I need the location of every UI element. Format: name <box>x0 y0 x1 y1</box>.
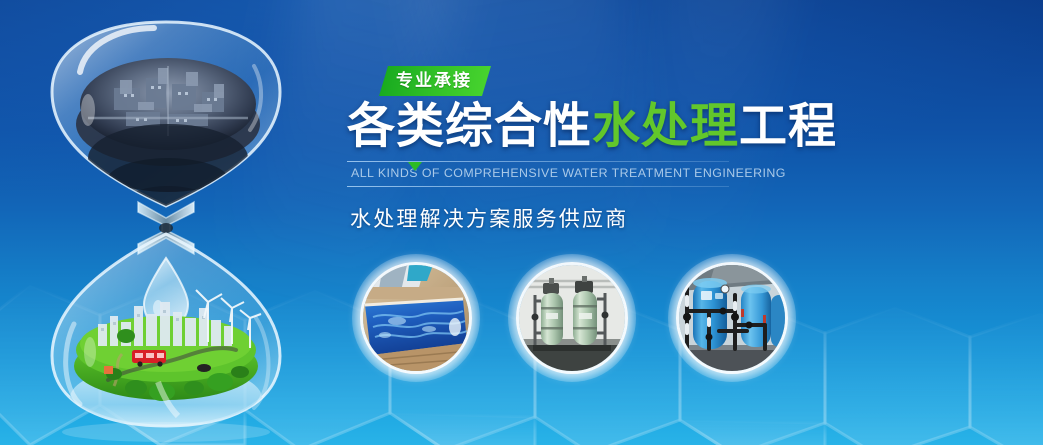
headline-part-green: 水处理 <box>592 100 739 153</box>
hourglass-illustration <box>18 6 318 442</box>
headline-part-2: 工程 <box>739 100 837 153</box>
banner-copy: 专业承接 各类综合性水处理工程 ALL KINDS OF COMPREHENSI… <box>347 66 767 233</box>
polluted-city-island <box>76 58 260 214</box>
hourglass-bottom-bulb <box>52 234 280 442</box>
water-treatment-banner: 专业承接 各类综合性水处理工程 ALL KINDS OF COMPREHENSI… <box>0 0 1043 445</box>
badge-professional-undertaking: 专业承接 <box>379 66 491 96</box>
headline-part-1: 各类综合性 <box>347 100 592 153</box>
swimming-pool-image <box>363 265 469 371</box>
divider-bottom <box>347 186 729 187</box>
water-softener-tanks-image <box>519 265 625 371</box>
photo-circle-filtration-tanks[interactable] <box>668 254 796 382</box>
photo-circle-softener-tanks[interactable] <box>508 254 636 382</box>
badge-tail <box>408 162 422 171</box>
industrial-filtration-tanks-image <box>679 265 785 371</box>
photo-circle-group <box>352 254 802 386</box>
photo-circle-swimming-pool[interactable] <box>352 254 480 382</box>
subtitle: 水处理解决方案服务供应商 <box>347 203 767 233</box>
hourglass-top-bulb <box>52 22 280 214</box>
page-title: 各类综合性水处理工程 <box>347 100 767 154</box>
